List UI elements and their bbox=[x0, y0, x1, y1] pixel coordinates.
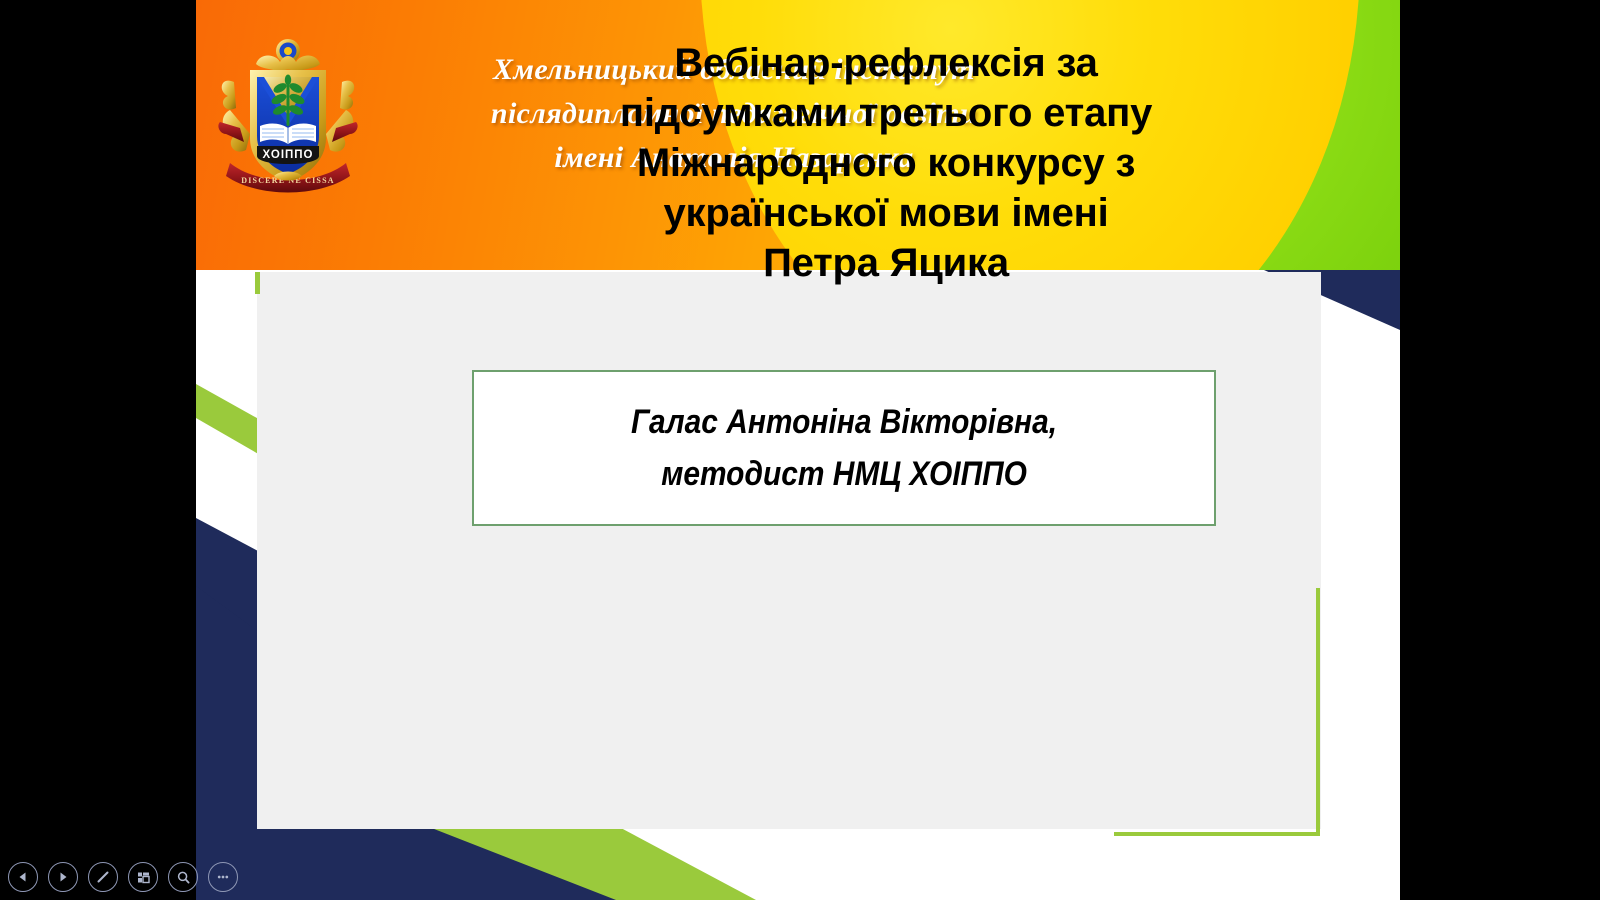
presenter-toolbar[interactable] bbox=[8, 862, 238, 892]
pen-tool-button[interactable] bbox=[88, 862, 118, 892]
pen-icon bbox=[95, 869, 111, 885]
author-name: Галас Антоніна Вікторівна, bbox=[631, 396, 1057, 448]
slides-grid-icon bbox=[136, 870, 151, 885]
slide-title-line3: Міжнародного конкурсу з bbox=[536, 138, 1236, 188]
slide-title-line5: Петра Яцика bbox=[536, 238, 1236, 288]
slide-title-line4: української мови імені bbox=[536, 188, 1236, 238]
presentation-stage: ХОІППО DISCERE NE CISSA Хмельницький обл… bbox=[0, 0, 1600, 900]
magnifier-icon bbox=[176, 870, 191, 885]
author-text: Галас Антоніна Вікторівна, методист НМЦ … bbox=[631, 396, 1057, 500]
triangle-left-icon bbox=[16, 870, 30, 884]
svg-text:ХОІППО: ХОІППО bbox=[263, 149, 314, 161]
slide-title-line2: підсумками третього етапу bbox=[536, 88, 1236, 138]
hoippo-emblem-icon: ХОІППО DISCERE NE CISSA bbox=[214, 30, 362, 195]
panel-right-green-accent-icon bbox=[1316, 588, 1320, 836]
zoom-button[interactable] bbox=[168, 862, 198, 892]
author-box: Галас Антоніна Вікторівна, методист НМЦ … bbox=[472, 370, 1216, 526]
slide-title-line1: Вебінар-рефлексія за bbox=[536, 38, 1236, 88]
slide-title: Вебінар-рефлексія за підсумками третього… bbox=[536, 38, 1236, 288]
all-slides-button[interactable] bbox=[128, 862, 158, 892]
content-panel bbox=[257, 272, 1321, 829]
previous-slide-button[interactable] bbox=[8, 862, 38, 892]
panel-top-green-accent-icon bbox=[255, 272, 260, 294]
panel-bottom-green-accent-icon bbox=[1114, 832, 1320, 836]
slide-canvas: ХОІППО DISCERE NE CISSA Хмельницький обл… bbox=[196, 0, 1400, 900]
next-slide-button[interactable] bbox=[48, 862, 78, 892]
triangle-right-icon bbox=[56, 870, 70, 884]
more-options-button[interactable] bbox=[208, 862, 238, 892]
ellipsis-icon bbox=[215, 869, 231, 885]
author-position: методист НМЦ ХОІППО bbox=[631, 448, 1057, 500]
